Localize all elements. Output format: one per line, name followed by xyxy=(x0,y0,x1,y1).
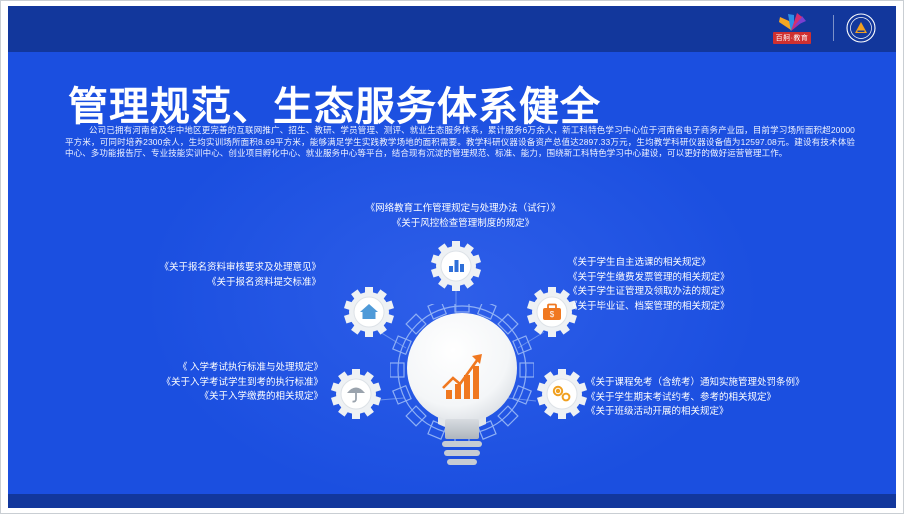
label-line: 《关于学生期末考试约考、参考的相关规定》 xyxy=(586,391,876,406)
label-line: 《关于课程免考（含统考）通知实施管理处罚条例》 xyxy=(586,376,876,391)
label-line: 《关于毕业证、档案管理的相关规定》 xyxy=(568,300,828,315)
label-line: 《关于班级活动开展的相关规定》 xyxy=(586,405,876,420)
node-top[interactable] xyxy=(430,240,482,292)
label-line: 《关于报名资料提交标准》 xyxy=(126,276,321,291)
label-line: 《关于学生自主选课的相关规定》 xyxy=(568,256,828,271)
university-emblem-logo xyxy=(846,13,876,43)
label-line: 《关于学生缴费发票管理的相关规定》 xyxy=(568,271,828,286)
label-group-bottom-left: 《 入学考试执行标准与处理规定》 《关于入学考试学生到考的执行标准》 《关于入学… xyxy=(38,361,323,405)
label-line: 《关于报名资料审核要求及处理意见》 xyxy=(126,261,321,276)
label-line: 《 入学考试执行标准与处理规定》 xyxy=(38,361,323,376)
center-lightbulb xyxy=(390,304,534,469)
intro-paragraph: 公司已拥有河南省及华中地区更完善的互联网推广、招生、教研、学员管理、测评、就业生… xyxy=(65,125,855,160)
logo-wordmark: 百舸·教育 xyxy=(773,32,812,44)
label-group-top: 《网络教育工作管理规定与处理办法（试行）》 《关于风控检查管理制度的规定》 xyxy=(338,202,588,231)
label-group-top-left: 《关于报名资料审核要求及处理意见》 《关于报名资料提交标准》 xyxy=(126,261,321,290)
node-top-left[interactable] xyxy=(343,286,395,338)
svg-text:$: $ xyxy=(550,310,555,319)
label-group-top-right: 《关于学生自主选课的相关规定》 《关于学生缴费发票管理的相关规定》 《关于学生证… xyxy=(568,256,828,314)
label-line: 《关于风控检查管理制度的规定》 xyxy=(338,217,588,232)
bird-leaf-mark-icon xyxy=(775,12,809,31)
ecosystem-diagram: $ xyxy=(8,186,896,486)
label-line: 《关于学生证管理及领取办法的规定》 xyxy=(568,285,828,300)
presentation-slide: 百舸·教育 管理规范、生态服务体系健全 公司已拥有河南省及华中地区更完善的互联网… xyxy=(8,6,896,508)
label-line: 《关于入学缴费的相关规定》 xyxy=(38,390,323,405)
label-line: 《网络教育工作管理规定与处理办法（试行）》 xyxy=(338,202,588,217)
label-line: 《关于入学考试学生到考的执行标准》 xyxy=(38,376,323,391)
slide-top-bar: 百舸·教育 xyxy=(8,6,896,52)
baihe-education-logo: 百舸·教育 xyxy=(763,11,821,45)
node-bottom-right[interactable] xyxy=(536,368,588,420)
slide-bottom-bar xyxy=(8,494,896,508)
node-bottom-left[interactable] xyxy=(330,368,382,420)
label-group-bottom-right: 《关于课程免考（含统考）通知实施管理处罚条例》 《关于学生期末考试约考、参考的相… xyxy=(586,376,876,420)
logo-group: 百舸·教育 xyxy=(763,11,876,45)
screenshot-root: 百舸·教育 管理规范、生态服务体系健全 公司已拥有河南省及华中地区更完善的互联网… xyxy=(0,0,904,514)
page-title: 管理规范、生态服务体系健全 xyxy=(68,74,601,132)
logo-divider xyxy=(833,15,834,41)
